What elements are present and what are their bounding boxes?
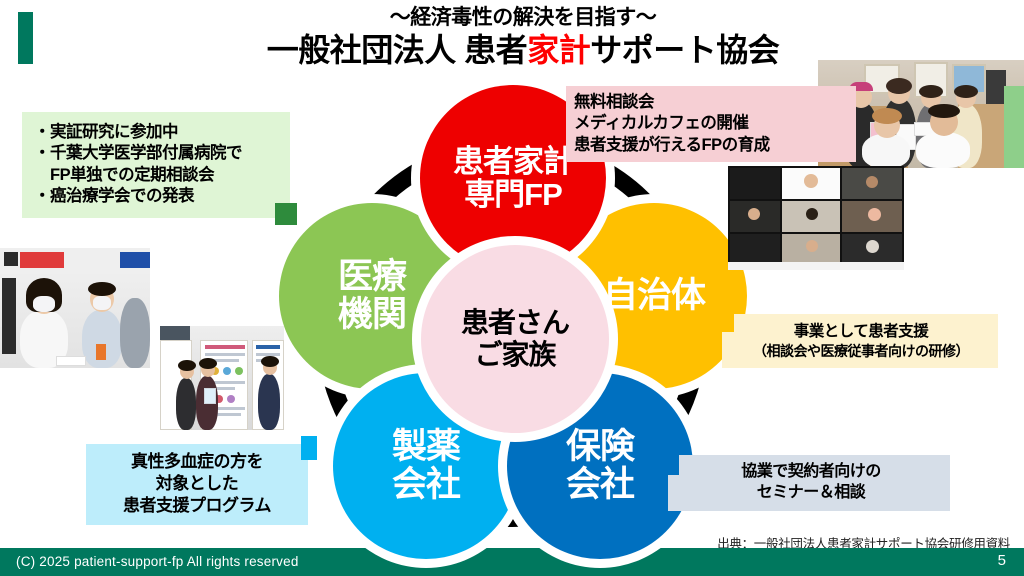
slide-subtitle: 〜経済毒性の解決を目指す〜 [0,6,1024,30]
callout-pharma-line-2: 対象とした [92,473,302,495]
callout-medical-line-4: ・癌治療学会での発表 [34,186,282,207]
petal-insurance-company-label: 保険会社 [566,428,634,504]
hospital-consultation-photo [0,248,150,368]
callout-government-line-1: 事業として患者支援 [730,322,992,342]
callout-medical-institution: ・実証研究に参加中 ・千葉大学医学部付属病院で FP単独での定期相談会 ・癌治療… [22,112,290,218]
callout-insurance-tab [659,447,679,475]
slide-footer: (C) 2025 patient-support-fp All rights r… [0,548,1024,576]
callout-pharma-tab [301,436,317,460]
petal-patient-household-fp-label: 患者家計専門FP [453,145,573,212]
callout-medical-tab [275,203,297,225]
callout-medical-line-1: ・実証研究に参加中 [34,122,282,143]
page-number: 5 [998,552,1006,569]
callout-government-tab [714,306,734,332]
callout-pharma-line-1: 真性多血症の方を [92,451,302,473]
callout-insurance-company: 協業で契約者向けの セミナー＆相談 [668,455,950,511]
conference-poster-photo [160,326,284,430]
petal-medical-institution-label: 医療機関 [338,258,406,334]
callout-fp-line-1: 無料相談会 [574,92,850,113]
callout-medical-line-2: ・千葉大学医学部付属病院で [34,143,282,164]
title-part-pre: 一般社団法人 患者 [267,32,527,68]
callout-fp-line-2: メディカルカフェの開催 [574,113,850,134]
title-part-post: サポート協会 [590,32,779,68]
center-label: 患者さんご家族 [461,307,569,371]
callout-fp-activities: 無料相談会 メディカルカフェの開催 患者支援が行えるFPの育成 [566,86,856,162]
callout-insurance-line-1: 協業で契約者向けの [678,462,944,483]
callout-local-government: 事業として患者支援 （相談会や医療従事者向けの研修） [722,314,998,368]
online-seminar-screenshot [728,166,904,270]
title-part-highlight: 家計 [527,32,590,68]
callout-government-line-2: （相談会や医療従事者向けの研修） [730,342,992,360]
petal-local-government-label: 自治体 [603,277,705,315]
copyright-text: (C) 2025 patient-support-fp All rights r… [16,554,299,569]
callout-pharma-company: 真性多血症の方を 対象とした 患者支援プログラム [86,444,308,525]
callout-pharma-line-3: 患者支援プログラム [92,495,302,517]
callout-insurance-line-2: セミナー＆相談 [678,483,944,504]
petal-pharma-company-label: 製薬会社 [392,428,460,504]
callout-medical-line-3: FP単独での定期相談会 [34,165,282,186]
callout-fp-line-3: 患者支援が行えるFPの育成 [574,135,850,156]
center-patient-family: 患者さんご家族 [421,245,609,433]
